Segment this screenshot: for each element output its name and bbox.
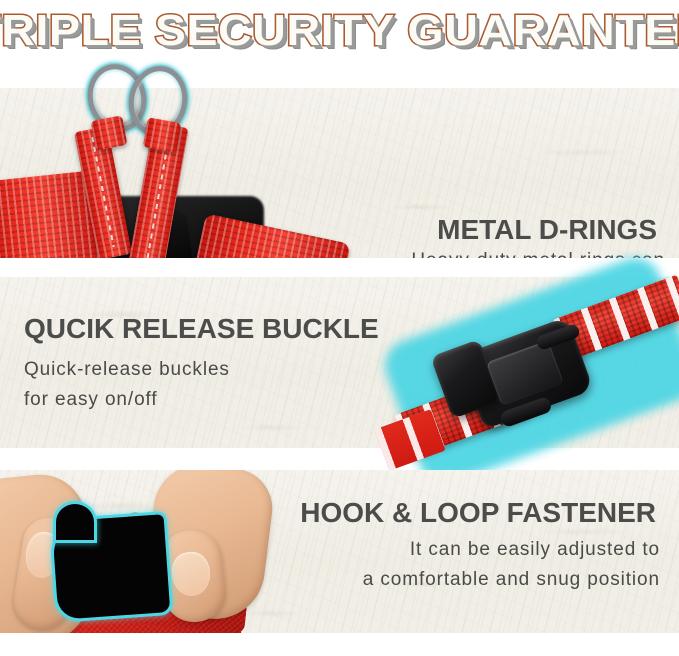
product-photo-d-rings: [0, 88, 340, 258]
panel-2-body-line-1: Quick-release buckles: [24, 355, 424, 385]
product-photo-hook-and-loop: [0, 470, 290, 633]
page-title: TRIPLE SECURITY GUARANTEE: [0, 8, 679, 54]
panel-2-copy: QUCIK RELEASE BUCKLE Quick-release buckl…: [24, 313, 424, 415]
feature-panel-hook-and-loop-fastener: HOOK & LOOP FASTENER It can be easily ad…: [0, 470, 679, 633]
harness-webbing-right-block: [193, 213, 351, 258]
panel-1-body-line-1: Heavy-duty metal rings can: [340, 246, 665, 258]
panel-3-body-line-2: a comfortable and snug position: [282, 565, 660, 595]
feature-panel-metal-d-rings: METAL D-RINGS Heavy-duty metal rings can…: [0, 88, 679, 258]
page-title-banner: TRIPLE SECURITY GUARANTEE: [0, 0, 679, 62]
panel-1-copy: METAL D-RINGS Heavy-duty metal rings can…: [340, 214, 665, 258]
panel-2-heading: QUCIK RELEASE BUCKLE: [24, 313, 424, 345]
panel-3-heading: HOOK & LOOP FASTENER: [282, 497, 660, 529]
feature-panel-quick-release-buckle: QUCIK RELEASE BUCKLE Quick-release buckl…: [0, 277, 679, 448]
panel-1-heading: METAL D-RINGS: [340, 214, 665, 246]
hook-and-loop-patch-tab: [56, 504, 94, 540]
panel-2-body-line-2: for easy on/off: [24, 385, 424, 415]
panel-3-copy: HOOK & LOOP FASTENER It can be easily ad…: [282, 497, 660, 595]
panel-3-body-line-1: It can be easily adjusted to: [282, 535, 660, 565]
